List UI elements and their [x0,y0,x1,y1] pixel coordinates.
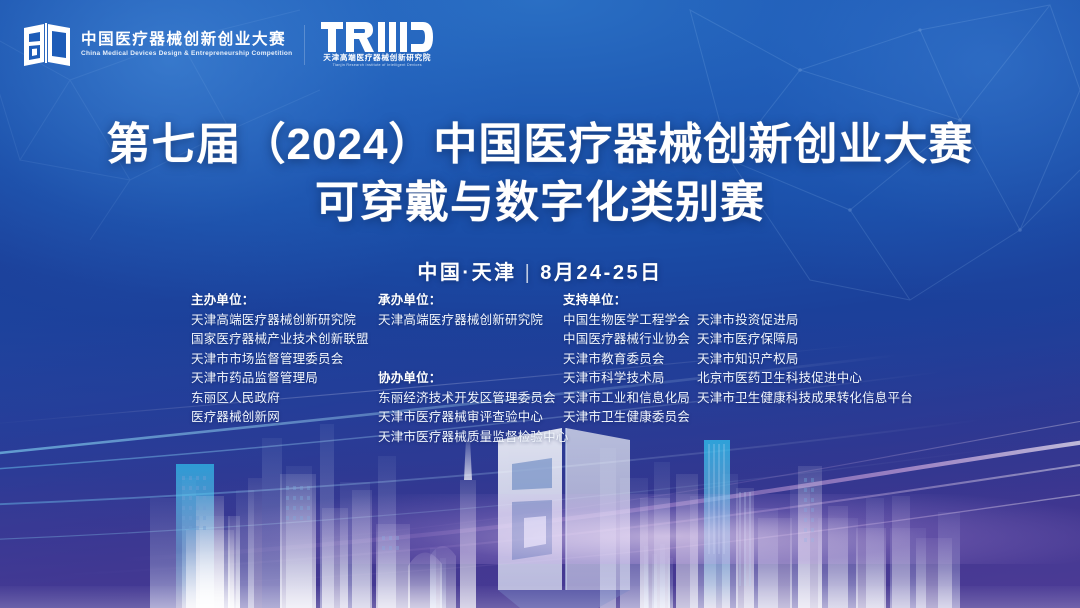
header-logos: 中国医疗器械创新创业大赛 China Medical Devices Desig… [22,22,433,67]
supporter-item: 天津市卫生健康委员会 [563,408,697,428]
open-book-door-logo-icon [22,22,72,67]
institute-logo-en: Tianjin Research Institute of Intelligen… [333,64,422,68]
subtitle-line: 中国·天津|8月24-25日 [0,256,1080,285]
supporter-item: 北京市医药卫生科技促进中心 [697,369,917,389]
coorganizer-header: 协办单位： [378,369,563,389]
event-poster: 中国医疗器械创新创业大赛 China Medical Devices Desig… [0,0,1080,608]
title-line-2: 可穿戴与数字化类别赛 [0,174,1080,232]
supporter-item: 天津市投资促进局 [697,311,917,331]
triid-wordmark-icon [321,22,433,52]
ground-light-glow [0,494,1080,564]
supporter-sub-right: 天津市投资促进局 天津市医疗保障局 天津市知识产权局 北京市医药卫生科技促进中心… [697,291,917,428]
host-column: 主办单位： 天津高端医疗器械创新研究院 国家医疗器械产业技术创新联盟 天津市市场… [191,291,378,428]
coorganizer-item: 天津市医疗器械审评查验中心 [378,408,563,428]
organizer-header: 承办单位： [378,291,563,311]
host-item: 天津市药品监督管理局 [191,369,378,389]
competition-logo-text: 中国医疗器械创新创业大赛 China Medical Devices Desig… [81,32,288,57]
coorganizer-item: 东丽经济技术开发区管理委员会 [378,389,563,409]
competition-logo-en: China Medical Devices Design & Entrepren… [81,51,292,57]
competition-logo: 中国医疗器械创新创业大赛 China Medical Devices Desig… [22,22,288,67]
organizer-column: 承办单位： 天津高端医疗器械创新研究院 协办单位： 东丽经济技术开发区管理委员会… [378,291,563,447]
logo-divider [304,25,305,65]
host-item: 东丽区人民政府 [191,389,378,409]
organizations-block: 主办单位： 天津高端医疗器械创新研究院 国家医疗器械产业技术创新联盟 天津市市场… [191,291,917,447]
supporter-column: 支持单位： 中国生物医学工程学会 中国医疗器械行业协会 天津市教育委员会 天津市… [563,291,917,428]
supporter-item: 天津市工业和信息化局 [563,389,697,409]
subtitle-location: 中国·天津 [417,262,516,284]
supporter-item: 天津市教育委员会 [563,350,697,370]
poster-title: 第七届（2024）中国医疗器械创新创业大赛 可穿戴与数字化类别赛 [0,116,1080,232]
supporter-item: 中国医疗器械行业协会 [563,330,697,350]
title-line-1: 第七届（2024）中国医疗器械创新创业大赛 [0,116,1080,174]
column-spacer [697,291,917,311]
competition-logo-cn: 中国医疗器械创新创业大赛 [81,32,288,48]
supporter-sub-left: 支持单位： 中国生物医学工程学会 中国医疗器械行业协会 天津市教育委员会 天津市… [563,291,697,428]
host-item: 天津市市场监督管理委员会 [191,350,378,370]
host-header: 主办单位： [191,291,378,311]
column-spacer [378,350,563,370]
coorganizer-item: 天津市医疗器械质量监督检验中心 [378,428,563,448]
supporter-item: 天津市科学技术局 [563,369,697,389]
organizer-item: 天津高端医疗器械创新研究院 [378,311,563,331]
supporter-item: 中国生物医学工程学会 [563,311,697,331]
institute-logo-cn: 天津高端医疗器械创新研究院 [323,54,431,62]
subtitle-date: 8月24-25日 [540,262,662,284]
host-item: 国家医疗器械产业技术创新联盟 [191,330,378,350]
supporter-item: 天津市知识产权局 [697,350,917,370]
subtitle-separator: | [525,262,533,285]
host-item: 天津高端医疗器械创新研究院 [191,311,378,331]
supporter-header: 支持单位： [563,291,697,311]
supporter-item: 天津市卫生健康科技成果转化信息平台 [697,389,917,409]
column-spacer [378,330,563,350]
institute-logo: 天津高端医疗器械创新研究院 Tianjin Research Institute… [321,22,433,67]
host-item: 医疗器械创新网 [191,408,378,428]
supporter-item: 天津市医疗保障局 [697,330,917,350]
